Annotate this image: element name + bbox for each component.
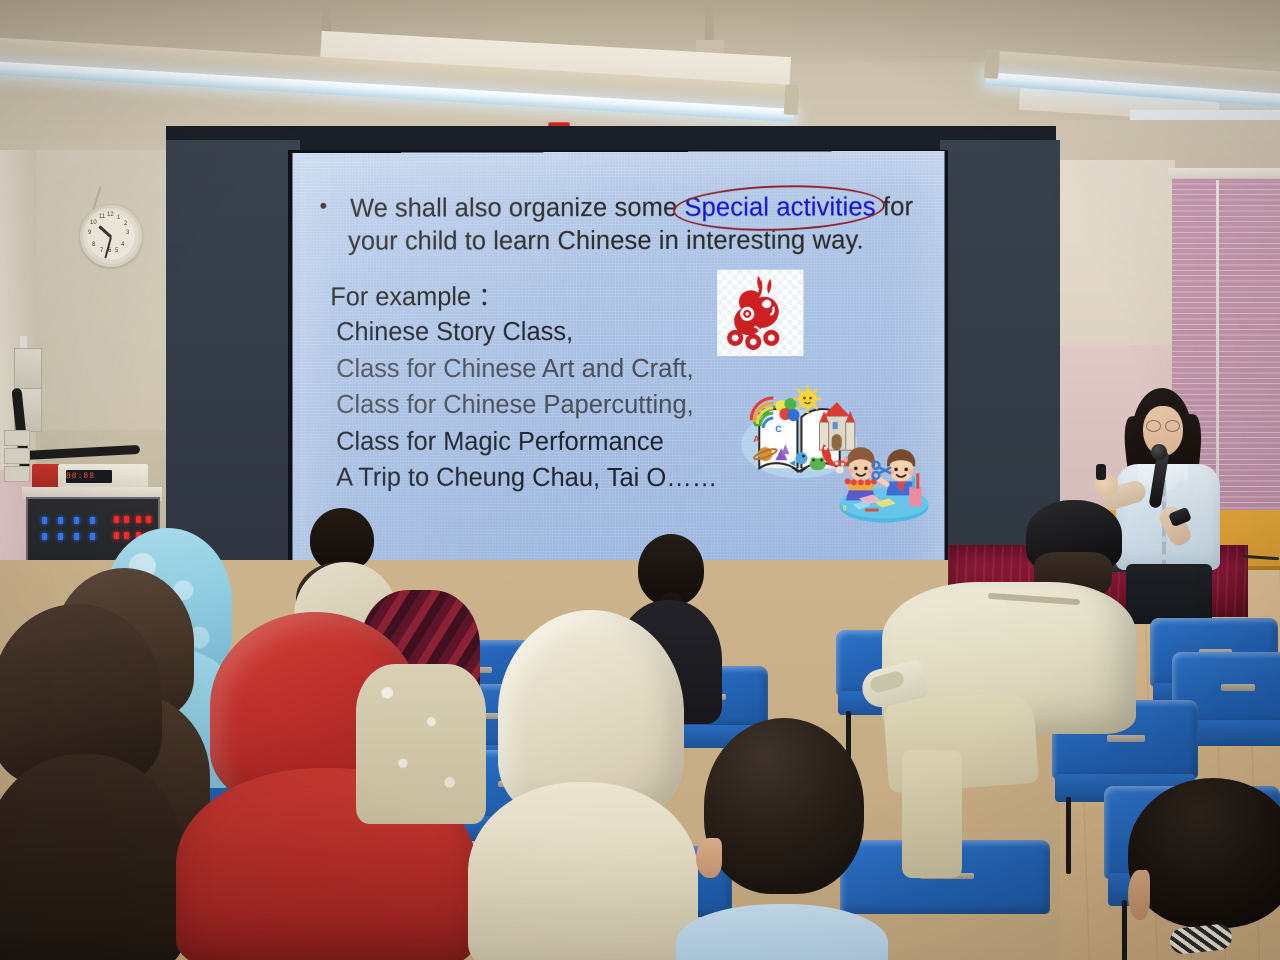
highlight-group: Special activities [684,191,875,225]
attendee-dark-hijab [0,604,184,960]
svg-text:A: A [753,434,760,444]
wall-clock: 12 3 6 9 1 2 4 5 7 8 10 11 [80,205,142,267]
example-list: Chinese Story Class, Class for Chinese A… [336,314,717,497]
amplifier-display: 88:88 [66,470,112,483]
amplifier-display-text: 88:88 [66,472,95,481]
bullet-suffix-text: for [876,193,914,221]
bullet-line2-text: your child to learn Chinese in interesti… [348,224,930,258]
example-heading: For example ： [330,276,503,313]
list-item: Class for Chinese Art and Craft, [336,350,717,387]
attendee-turban-cream-shirt [858,500,1148,880]
list-item: Class for Magic Performance [336,423,717,460]
bullet-prefix-text: We shall also organize some [350,194,684,223]
attendee-ivory-hijab [468,610,698,960]
list-item: Class for Chinese Papercutting, [336,387,717,424]
glasses-icon [1146,420,1180,430]
wall-sockets[interactable] [4,430,30,490]
svg-text:8: 8 [843,505,847,512]
list-item: Chinese Story Class, [336,314,717,351]
svg-text:C: C [775,424,782,434]
attendee-ponytail-right [1118,778,1280,960]
paper-cut-rabbit-icon [717,270,803,356]
bullet-marker-icon [320,203,326,209]
attendee-boy-blue-shirt [676,718,888,960]
list-item: A Trip to Cheung Chau, Tai O…… [336,460,717,497]
highlight-text: Special activities [684,193,875,222]
presentation-clicker[interactable] [1096,464,1106,480]
slide-bullet: We shall also organize some Special acti… [320,191,930,258]
presentation-hall-photo: 12 3 6 9 1 2 4 5 7 8 10 11 We shall also… [0,0,1280,960]
attendee-ivory-sleeve [356,664,486,824]
